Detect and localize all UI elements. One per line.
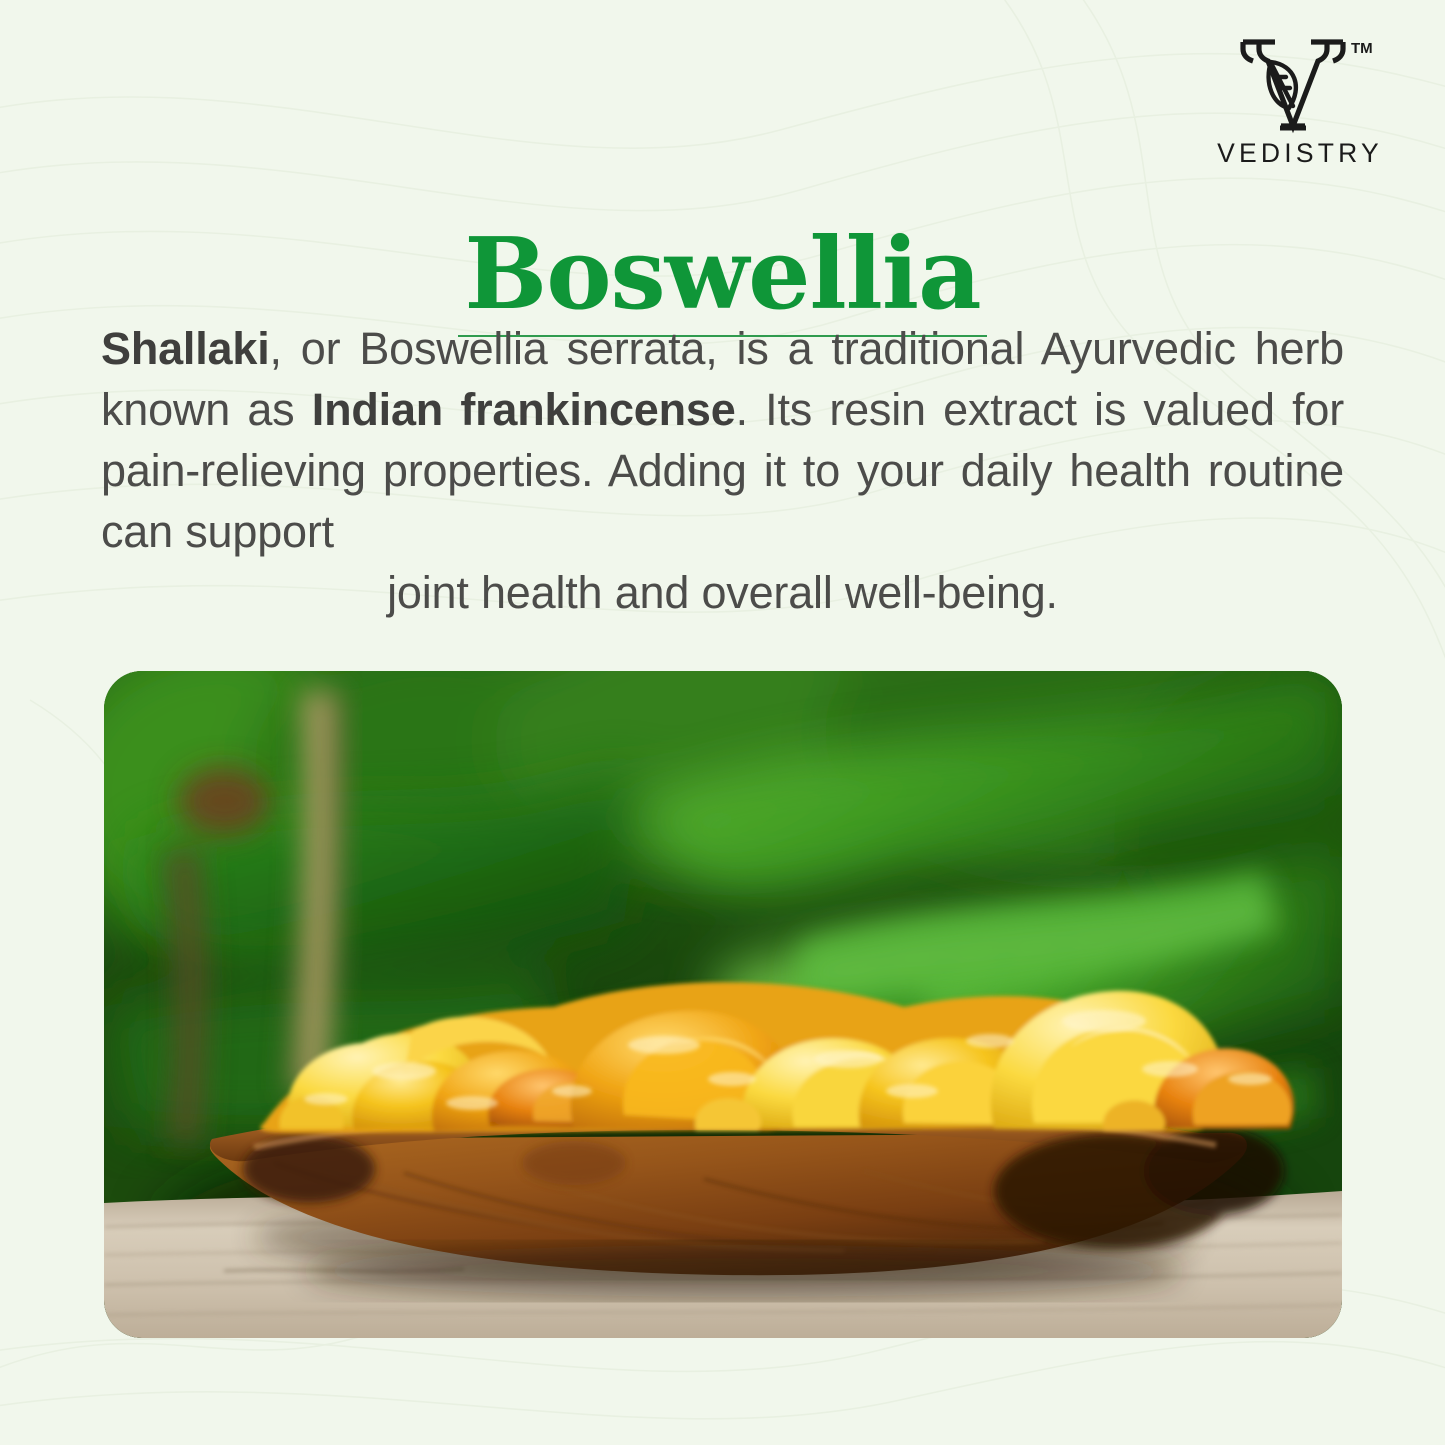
description-last-line: joint health and overall well-being. xyxy=(101,562,1344,623)
promo-card: TM VEDISTRY Boswellia Shallaki, or Boswe… xyxy=(0,0,1445,1445)
trademark-symbol: TM xyxy=(1351,40,1373,57)
v-leaf-monogram-icon: TM xyxy=(1193,34,1403,134)
boswellia-resin-photo xyxy=(104,671,1342,1338)
term-indian-frankincense: Indian frankincense xyxy=(312,384,736,435)
description-paragraph: Shallaki, or Boswellia serrata, is a tra… xyxy=(101,318,1344,623)
brand-logo: TM VEDISTRY xyxy=(1193,34,1403,167)
term-shallaki: Shallaki xyxy=(101,323,270,374)
